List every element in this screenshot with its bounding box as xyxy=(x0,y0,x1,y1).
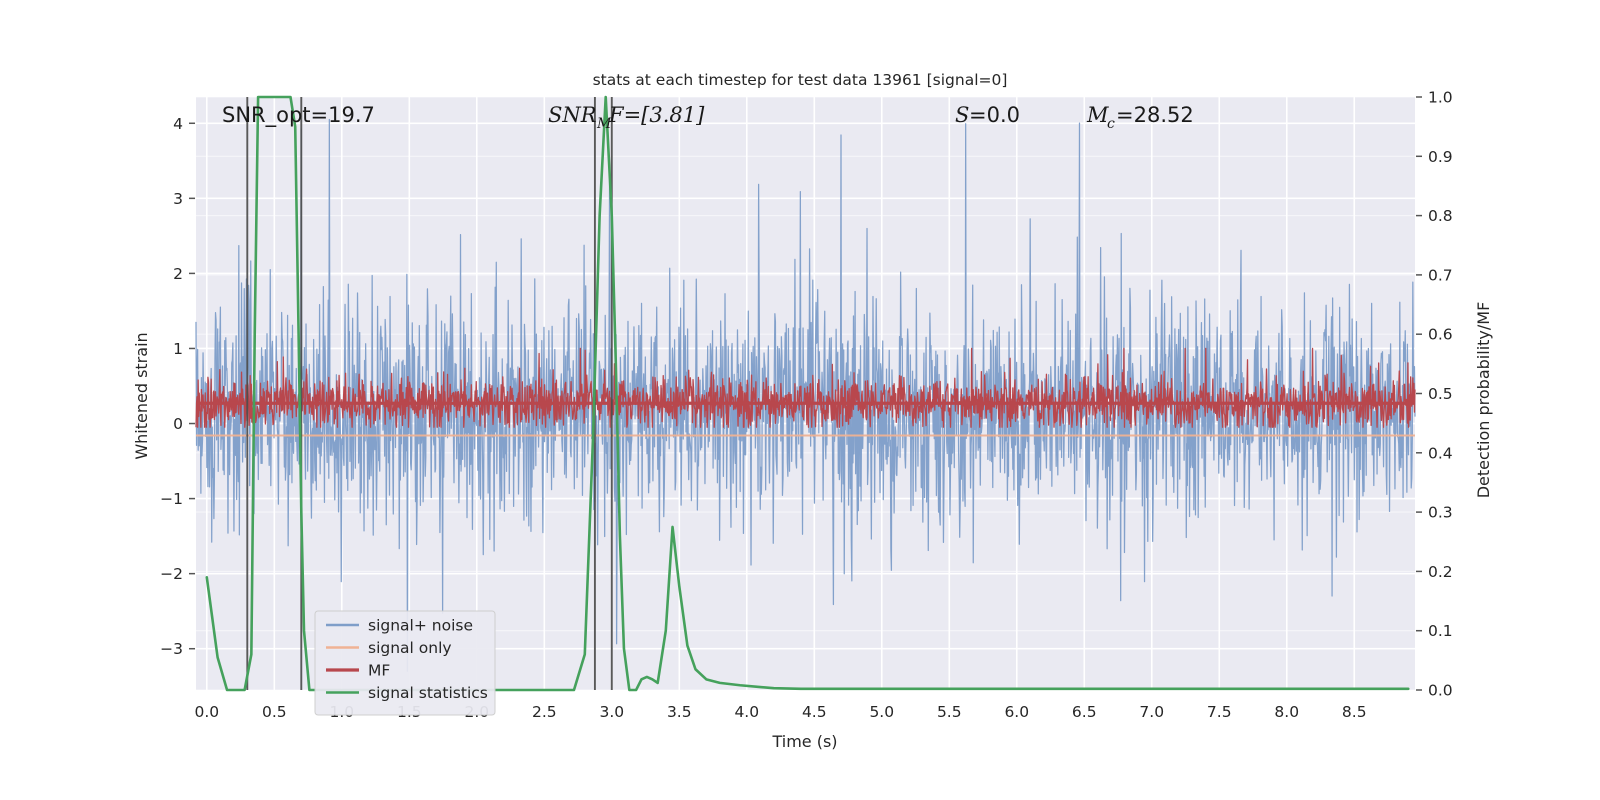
annotation-mc-subscript: c xyxy=(1107,116,1115,132)
x-axis-title: Time (s) xyxy=(771,732,837,751)
x-tick-label: 6.0 xyxy=(1004,703,1029,721)
x-tick-label: 4.5 xyxy=(802,703,827,721)
x-tick-label: 3.0 xyxy=(599,703,624,721)
x-tick-label: 8.5 xyxy=(1342,703,1367,721)
y-axis-right-title: Detection probability/MF xyxy=(1474,302,1493,499)
x-tick-label: 0.5 xyxy=(262,703,287,721)
annotation-snr-opt: SNR_opt=19.7 xyxy=(222,103,375,128)
x-tick-label: 5.5 xyxy=(937,703,962,721)
x-tick-label: 5.0 xyxy=(869,703,894,721)
annotation-s-symbol: S xyxy=(955,103,969,127)
y-right-tick-label: 0.7 xyxy=(1428,266,1453,284)
legend-label: signal+ noise xyxy=(368,617,473,635)
x-tick-label: 3.5 xyxy=(667,703,692,721)
annotation-s-value: =0.0 xyxy=(969,103,1020,127)
annotation-snr-mf-prefix: SNR xyxy=(548,103,597,127)
x-tick-label: 7.5 xyxy=(1207,703,1232,721)
y-right-tick-label: 0.3 xyxy=(1428,504,1453,522)
x-tick-label: 6.5 xyxy=(1072,703,1097,721)
y-right-tick-label: 0.2 xyxy=(1428,563,1453,581)
x-tick-label: 8.0 xyxy=(1274,703,1299,721)
legend-label: signal statistics xyxy=(368,684,488,702)
y-left-tick-label: 3 xyxy=(173,190,183,208)
x-tick-label: 2.5 xyxy=(532,703,557,721)
y-right-tick-label: 0.9 xyxy=(1428,148,1453,166)
annotation-mc-value: =28.52 xyxy=(1116,103,1194,127)
y-axis-left-title: Whitened strain xyxy=(132,332,151,459)
y-right-tick-label: 0.8 xyxy=(1428,207,1453,225)
chart-svg: 0.00.51.01.52.02.53.03.54.04.55.05.56.06… xyxy=(0,0,1600,800)
y-right-tick-label: 0.0 xyxy=(1428,682,1453,700)
chart-legend[interactable]: signal+ noisesignal onlyMFsignal statist… xyxy=(315,611,495,715)
annotation-s: S =0.0 xyxy=(955,103,1020,127)
y-left-tick-label: 1 xyxy=(173,340,183,358)
y-left-tick-label: 2 xyxy=(173,265,183,283)
y-left-tick-label: 0 xyxy=(173,415,183,433)
x-tick-label: 7.0 xyxy=(1139,703,1164,721)
y-right-tick-label: 0.4 xyxy=(1428,444,1453,462)
y-right-tick-label: 0.6 xyxy=(1428,326,1453,344)
chart-title: stats at each timestep for test data 139… xyxy=(593,71,1008,89)
y-right-tick-label: 0.1 xyxy=(1428,622,1453,640)
plot-area-group xyxy=(196,97,1415,690)
x-tick-label: 0.0 xyxy=(194,703,219,721)
figure-canvas: 0.00.51.01.52.02.53.03.54.04.55.05.56.06… xyxy=(0,0,1600,800)
y-left-tick-label: −3 xyxy=(160,640,183,658)
x-tick-label: 4.0 xyxy=(734,703,759,721)
y-right-tick-label: 0.5 xyxy=(1428,385,1453,403)
y-right-tick-label: 1.0 xyxy=(1428,89,1453,107)
legend-label: signal only xyxy=(368,639,452,657)
y-left-tick-label: 4 xyxy=(173,115,183,133)
y-left-tick-label: −2 xyxy=(160,565,183,583)
y-left-tick-label: −1 xyxy=(160,490,183,508)
y-axis-right-ticks: 0.00.10.20.30.40.50.60.70.80.91.0 xyxy=(1416,89,1453,700)
legend-label: MF xyxy=(368,662,390,680)
annotation-snr-mf-suffix: F=[3.81] xyxy=(608,103,705,127)
annotation-mc-symbol: M xyxy=(1086,103,1109,127)
y-axis-left-ticks: −3−2−101234 xyxy=(160,115,195,658)
